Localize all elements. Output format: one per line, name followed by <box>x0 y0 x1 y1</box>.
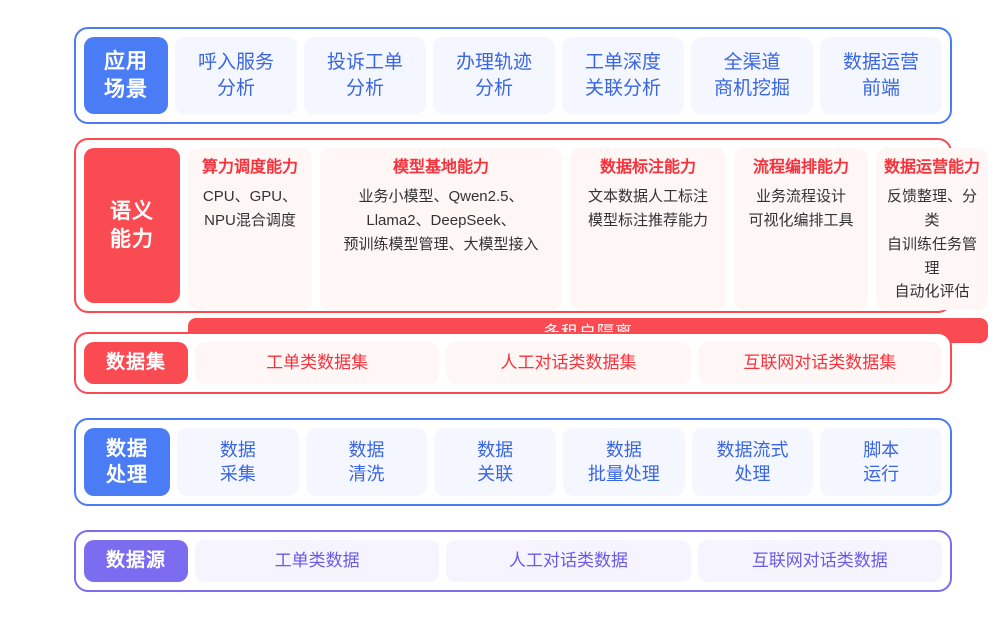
data-processing-badge: 数据 处理 <box>84 428 170 496</box>
processing-card-stream-processing[interactable]: 数据流式 处理 <box>692 428 814 496</box>
semantic-card-title: 算力调度能力 <box>202 157 298 178</box>
semantic-capability-cards: 算力调度能力 CPU、GPU、 NPU混合调度 模型基地能力 业务小模型、Qwe… <box>188 148 988 310</box>
data-source-row: 数据源 工单类数据 人工对话类数据 互联网对话类数据 <box>74 530 952 592</box>
data-processing-cards: 数据 采集 数据 清洗 数据 关联 数据 批量处理 数据流式 处理 脚本 运行 <box>177 428 942 496</box>
dataset-row: 数据集 工单类数据集 人工对话类数据集 互联网对话类数据集 <box>74 332 952 394</box>
scenario-card-handling-trace[interactable]: 办理轨迹 分析 <box>433 37 555 114</box>
semantic-capability-content: 算力调度能力 CPU、GPU、 NPU混合调度 模型基地能力 业务小模型、Qwe… <box>188 148 988 303</box>
semantic-capability-row: 语义 能力 算力调度能力 CPU、GPU、 NPU混合调度 模型基地能力 业务小… <box>74 138 952 313</box>
processing-card-batch-processing[interactable]: 数据 批量处理 <box>563 428 685 496</box>
source-card-ticket-data[interactable]: 工单类数据 <box>195 540 439 582</box>
application-scenario-cards: 呼入服务 分析 投诉工单 分析 办理轨迹 分析 工单深度 关联分析 全渠道 商机… <box>175 37 942 114</box>
processing-card-correlation[interactable]: 数据 关联 <box>434 428 556 496</box>
semantic-card-body: CPU、GPU、 NPU混合调度 <box>203 185 297 232</box>
semantic-card-title: 数据运营能力 <box>884 157 980 178</box>
processing-card-cleaning[interactable]: 数据 清洗 <box>306 428 428 496</box>
application-scenario-badge: 应用 场景 <box>84 37 168 114</box>
dataset-card-human-dialogue[interactable]: 人工对话类数据集 <box>446 342 690 384</box>
source-card-human-dialogue-data[interactable]: 人工对话类数据 <box>446 540 690 582</box>
semantic-capability-badge: 语义 能力 <box>84 148 180 303</box>
scenario-card-complaint-ticket[interactable]: 投诉工单 分析 <box>304 37 426 114</box>
data-processing-row: 数据 处理 数据 采集 数据 清洗 数据 关联 数据 批量处理 数据流式 处理 … <box>74 418 952 506</box>
source-card-internet-dialogue-data[interactable]: 互联网对话类数据 <box>698 540 942 582</box>
dataset-card-ticket[interactable]: 工单类数据集 <box>195 342 439 384</box>
semantic-card-data-annotation[interactable]: 数据标注能力 文本数据人工标注 模型标注推荐能力 <box>570 148 726 310</box>
data-source-badge: 数据源 <box>84 540 188 582</box>
semantic-card-body: 业务流程设计 可视化编排工具 <box>748 185 853 232</box>
data-source-cards: 工单类数据 人工对话类数据 互联网对话类数据 <box>195 540 942 582</box>
processing-card-script-run[interactable]: 脚本 运行 <box>820 428 942 496</box>
scenario-card-omnichannel-opportunity[interactable]: 全渠道 商机挖掘 <box>691 37 813 114</box>
semantic-card-body: 反馈整理、分类 自训练任务管理 自动化评估 <box>884 185 980 303</box>
scenario-card-inbound-service[interactable]: 呼入服务 分析 <box>175 37 297 114</box>
scenario-card-data-operation-frontend[interactable]: 数据运营 前端 <box>820 37 942 114</box>
processing-card-collection[interactable]: 数据 采集 <box>177 428 299 496</box>
semantic-card-title: 数据标注能力 <box>600 157 696 178</box>
scenario-card-ticket-deep-correlation[interactable]: 工单深度 关联分析 <box>562 37 684 114</box>
semantic-card-body: 文本数据人工标注 模型标注推荐能力 <box>588 185 708 232</box>
dataset-badge: 数据集 <box>84 342 188 384</box>
semantic-card-model-base[interactable]: 模型基地能力 业务小模型、Qwen2.5、 Llama2、DeepSeek、 预… <box>320 148 562 310</box>
application-scenario-row: 应用 场景 呼入服务 分析 投诉工单 分析 办理轨迹 分析 工单深度 关联分析 … <box>74 27 952 124</box>
dataset-card-internet-dialogue[interactable]: 互联网对话类数据集 <box>698 342 942 384</box>
semantic-card-title: 模型基地能力 <box>393 157 489 178</box>
semantic-card-process-orchestration[interactable]: 流程编排能力 业务流程设计 可视化编排工具 <box>734 148 868 310</box>
dataset-cards: 工单类数据集 人工对话类数据集 互联网对话类数据集 <box>195 342 942 384</box>
architecture-diagram: 应用 场景 呼入服务 分析 投诉工单 分析 办理轨迹 分析 工单深度 关联分析 … <box>0 0 1000 620</box>
semantic-card-body: 业务小模型、Qwen2.5、 Llama2、DeepSeek、 预训练模型管理、… <box>343 185 538 256</box>
semantic-card-title: 流程编排能力 <box>753 157 849 178</box>
semantic-card-compute-scheduling[interactable]: 算力调度能力 CPU、GPU、 NPU混合调度 <box>188 148 312 310</box>
semantic-card-data-operation[interactable]: 数据运营能力 反馈整理、分类 自训练任务管理 自动化评估 <box>876 148 988 310</box>
